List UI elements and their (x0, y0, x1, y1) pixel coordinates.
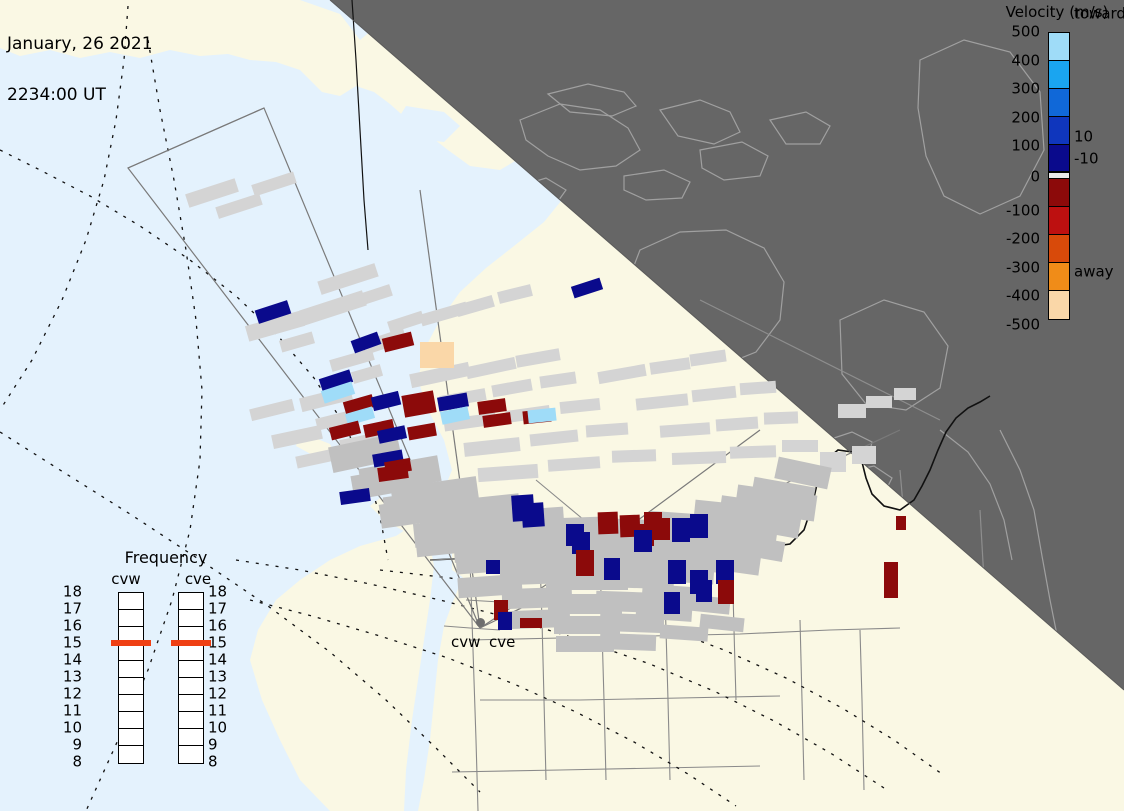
frequency-row (179, 729, 203, 746)
ground-scatter-cell (463, 437, 520, 457)
colorbar-tick-labels: 5004003002001000-100-200-300-400-500 (988, 32, 1043, 320)
colorbar-tick: 300 (1011, 82, 1040, 97)
colorbar-tick: 200 (1011, 110, 1040, 125)
ground-scatter-cell (271, 425, 323, 449)
colorbar-tick: 0 (1030, 170, 1040, 185)
velocity-cell (668, 560, 686, 584)
timestamp: January, 26 2021 2234:00 UT (7, 2, 153, 138)
colorbar-swatch (1049, 145, 1069, 173)
frequency-title: Frequency (96, 548, 236, 567)
ground-scatter-cell (279, 332, 315, 353)
velocity-cell (690, 514, 708, 538)
colorbar-tick: -100 (1006, 203, 1040, 218)
frequency-row (119, 644, 143, 661)
ground-scatter-cell (660, 422, 711, 437)
frequency-marker (171, 640, 211, 646)
ground-scatter-cell (455, 295, 495, 317)
ground-scatter-cell (351, 284, 393, 308)
velocity-cell (652, 518, 670, 540)
colorbar-tick: 500 (1011, 25, 1040, 40)
radar-site-label-cve: cve (489, 635, 515, 650)
ground-scatter-cell (649, 357, 690, 374)
frequency-tick: 16 (208, 619, 227, 634)
velocity-cell (571, 278, 603, 299)
frequency-scale-cvw (118, 592, 144, 764)
ground-scatter-cell (515, 348, 560, 367)
colorbar-tick: -400 (1006, 289, 1040, 304)
frequency-tick: 18 (63, 585, 82, 600)
velocity-cell (339, 488, 371, 505)
ground-scatter-cell (894, 388, 916, 400)
radar-site-label-cvw: cvw (451, 635, 480, 650)
frequency-column-cve: cve 18171615141312111098 (168, 570, 228, 785)
colorbar-swatch (1049, 291, 1069, 319)
ground-scatter-cell (387, 311, 425, 334)
ground-scatter-cell (600, 633, 657, 651)
colorbar-swatch (1049, 263, 1069, 291)
velocity-colorbar: Velocity (m/s) 5004003002001000-100-200-… (988, 0, 1124, 340)
frequency-tick: 12 (208, 687, 227, 702)
frequency-tick: 13 (208, 670, 227, 685)
frequency-tick: 8 (72, 755, 82, 770)
ground-scatter-cell (539, 372, 576, 389)
radar-station-dot (476, 618, 485, 627)
colorbar-tick: -300 (1006, 260, 1040, 275)
velocity-cell (896, 516, 906, 530)
frequency-tick: 16 (63, 619, 82, 634)
ground-scatter-cell (740, 381, 777, 395)
frequency-column-name: cvw (96, 570, 156, 588)
velocity-cell (672, 518, 690, 542)
velocity-cell (420, 342, 454, 368)
frequency-tick: 8 (208, 755, 218, 770)
ground-scatter-cell (672, 451, 726, 465)
ground-scatter-cell (351, 364, 383, 384)
frequency-tick: 9 (208, 738, 218, 753)
frequency-row (119, 746, 143, 763)
colorbar-tick: 400 (1011, 53, 1040, 68)
frequency-row (119, 695, 143, 712)
velocity-cell (401, 390, 436, 417)
frequency-tick: 10 (63, 721, 82, 736)
frequency-row (119, 661, 143, 678)
ground-scatter-cell (491, 379, 532, 398)
ground-scatter-cell (597, 364, 646, 384)
frequency-row (179, 746, 203, 763)
colorbar-strip (1048, 32, 1070, 320)
ground-scatter-cell (716, 417, 759, 432)
ground-scatter-cell (764, 411, 798, 424)
ground-scatter-cell (530, 430, 579, 447)
colorbar-swatch (1049, 89, 1069, 117)
velocity-cell (598, 512, 619, 535)
colorbar-zero-band (1049, 172, 1069, 179)
colorbar-swatch (1049, 117, 1069, 145)
frequency-row (119, 610, 143, 627)
ground-scatter-cell (465, 357, 516, 379)
ground-scatter-cell (317, 263, 378, 295)
colorbar-tick: -500 (1006, 318, 1040, 333)
frequency-row (179, 661, 203, 678)
colorbar-swatch (1049, 235, 1069, 263)
ground-scatter-cell (691, 386, 736, 403)
frequency-marker (111, 640, 151, 646)
frequency-tick: 18 (208, 585, 227, 600)
frequency-tick: 12 (63, 687, 82, 702)
ground-scatter-cell (866, 396, 892, 408)
frequency-tick: 11 (208, 704, 227, 719)
frequency-ticks-cve: 18171615141312111098 (208, 592, 234, 764)
frequency-row (119, 712, 143, 729)
frequency-scale-cve (178, 592, 204, 764)
velocity-cell (664, 592, 680, 614)
ground-scatter-cell (497, 284, 533, 304)
fan-plot-figure: January, 26 2021 2234:00 UT Velocity (m/… (0, 0, 1124, 811)
frequency-row (179, 712, 203, 729)
frequency-panel: Frequency cvw 18171615141312111098 cve 1… (96, 548, 236, 786)
ground-scatter-cell (689, 350, 726, 367)
ground-scatter-cell (612, 449, 656, 463)
velocity-cell (371, 391, 402, 411)
velocity-cell (604, 558, 620, 580)
colorbar-threshold-low: -10 (1074, 152, 1099, 167)
colorbar-swatch (1049, 207, 1069, 235)
frequency-row (119, 593, 143, 610)
ground-scatter-cell (782, 440, 818, 452)
frequency-tick: 17 (63, 602, 82, 617)
ground-scatter-cell (548, 456, 601, 472)
colorbar-swatch (1049, 179, 1069, 207)
velocity-cell (498, 612, 512, 630)
frequency-row (119, 678, 143, 695)
frequency-tick: 15 (63, 636, 82, 651)
ground-scatter-cell (636, 393, 689, 410)
ground-scatter-cell (478, 464, 539, 482)
frequency-row (179, 678, 203, 695)
frequency-column-cvw: cvw 18171615141312111098 (96, 570, 156, 785)
frequency-tick: 9 (72, 738, 82, 753)
velocity-cell (718, 580, 734, 604)
colorbar-toward-label: toward (1074, 7, 1124, 22)
velocity-cell (696, 580, 712, 602)
velocity-cell (884, 562, 898, 598)
colorbar-tick: 100 (1011, 139, 1040, 154)
ground-scatter-cell (559, 398, 600, 414)
timestamp-date: January, 26 2021 (7, 36, 153, 53)
velocity-cell (486, 560, 500, 574)
ground-scatter-cell (251, 171, 297, 196)
ground-scatter-cell (586, 423, 629, 438)
velocity-cell (520, 618, 542, 628)
frequency-row (119, 729, 143, 746)
velocity-cell (576, 550, 594, 576)
frequency-row (179, 610, 203, 627)
velocity-cell (634, 530, 652, 552)
colorbar-tick: -200 (1006, 232, 1040, 247)
frequency-tick: 13 (63, 670, 82, 685)
frequency-row (179, 593, 203, 610)
frequency-tick: 14 (208, 653, 227, 668)
colorbar-away-label: away (1074, 265, 1114, 280)
frequency-row (179, 695, 203, 712)
ground-scatter-cell (215, 193, 262, 219)
frequency-row (179, 644, 203, 661)
colorbar-threshold-high: 10 (1074, 130, 1093, 145)
frequency-tick: 17 (208, 602, 227, 617)
ground-scatter-cell (838, 404, 866, 418)
frequency-tick: 10 (208, 721, 227, 736)
colorbar-swatch (1049, 61, 1069, 89)
colorbar-swatch (1049, 33, 1069, 61)
ground-scatter-cell (249, 399, 295, 421)
ground-scatter-cell (730, 445, 776, 459)
frequency-ticks-cvw: 18171615141312111098 (90, 592, 116, 764)
frequency-tick: 14 (63, 653, 82, 668)
velocity-cell (521, 502, 545, 527)
timestamp-time: 2234:00 UT (7, 87, 153, 104)
velocity-cell (407, 423, 437, 441)
frequency-tick: 11 (63, 704, 82, 719)
ground-scatter-cell (852, 446, 876, 464)
